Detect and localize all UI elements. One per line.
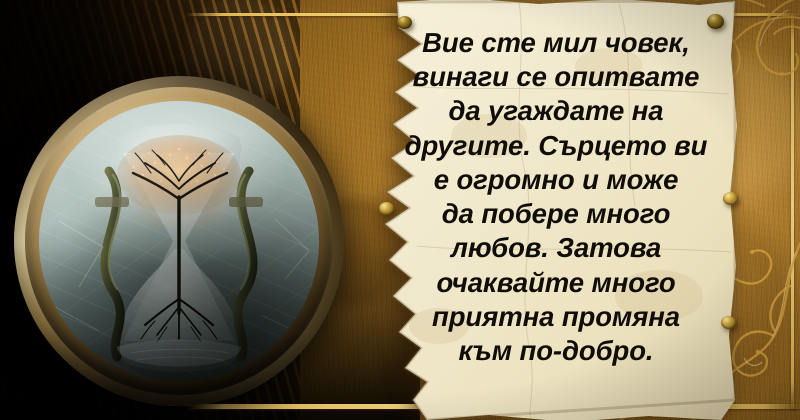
brass-tack-top-right — [707, 14, 724, 29]
pocket-watch-hourglass-photo — [14, 76, 344, 406]
brass-tack-middle-right — [723, 192, 738, 205]
hourglass-illustration — [39, 101, 319, 381]
brass-tack-top-left — [397, 16, 412, 29]
torn-paper-note: Вие сте мил човек, винаги се опитвате да… — [369, 0, 743, 420]
quote-image-canvas: Вие сте мил човек, винаги се опитвате да… — [0, 0, 800, 420]
quote-text: Вие сте мил човек, винаги се опитвате да… — [395, 26, 717, 368]
brass-tack-bottom-right — [721, 316, 736, 329]
gold-line-right — [791, 13, 794, 409]
brass-tack-middle-left — [379, 202, 394, 215]
